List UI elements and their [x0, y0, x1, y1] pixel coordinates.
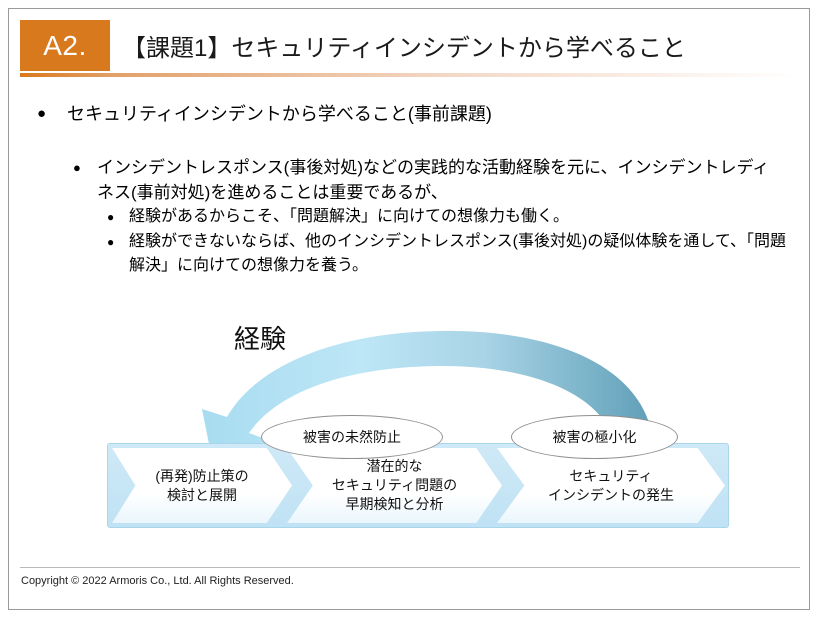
- footer-divider: [20, 567, 800, 568]
- bullet-marker-icon: ●: [37, 101, 67, 127]
- bullet-level3-item-1: ● 経験があるからこそ、「問題解決」に向けての想像力も働く。: [107, 205, 797, 229]
- slide-canvas: A2. 【課題1】セキュリティインシデントから学べること ● セキュリティインシ…: [8, 8, 810, 610]
- process-step-1-text: (再発)防止策の検討と展開: [155, 467, 248, 505]
- process-step-1: (再発)防止策の検討と展開: [112, 448, 292, 523]
- process-step-2-line-3: 早期検知と分析: [332, 495, 457, 514]
- process-step-2-line-1: 潜在的な: [332, 457, 457, 476]
- process-step-2-text: 潜在的なセキュリティ問題の早期検知と分析: [332, 457, 457, 514]
- process-step-3-line-1: セキュリティ: [548, 467, 674, 486]
- process-step-2-line-2: セキュリティ問題の: [332, 476, 457, 495]
- callout-prevention-label: 被害の未然防止: [303, 427, 401, 447]
- process-step-3-text: セキュリティインシデントの発生: [548, 467, 674, 505]
- callout-minimization: 被害の極小化: [511, 415, 678, 459]
- bullet-level1-text: セキュリティインシデントから学べること(事前課題): [67, 101, 492, 127]
- section-badge: A2.: [20, 20, 110, 71]
- slide-header: A2. 【課題1】セキュリティインシデントから学べること: [9, 9, 810, 71]
- bullet-marker-icon: ●: [107, 230, 129, 278]
- bullet-level2-text: インシデントレスポンス(事後対処)などの実践的な活動経験を元に、インシデントレデ…: [97, 155, 783, 205]
- bullet-level3-text: 経験ができないならば、他のインシデントレスポンス(事後対処)の疑似体験を通して、…: [129, 230, 797, 278]
- process-step-3-line-2: インシデントの発生: [548, 486, 674, 505]
- callout-minimization-label: 被害の極小化: [553, 427, 637, 447]
- bullet-level1: ● セキュリティインシデントから学べること(事前課題): [37, 101, 777, 127]
- bullet-level3-text: 経験があるからこそ、「問題解決」に向けての想像力も働く。: [129, 205, 569, 229]
- page-title: 【課題1】セキュリティインシデントから学べること: [110, 20, 800, 71]
- process-step-1-line-1: (再発)防止策の: [155, 467, 248, 486]
- section-badge-label: A2.: [43, 32, 87, 60]
- callout-prevention: 被害の未然防止: [261, 415, 443, 459]
- process-step-2: 潜在的なセキュリティ問題の早期検知と分析: [287, 448, 502, 523]
- bullet-marker-icon: ●: [107, 205, 129, 229]
- process-step-1-line-2: 検討と展開: [155, 486, 248, 505]
- footer-copyright: Copyright © 2022 Armoris Co., Ltd. All R…: [21, 575, 294, 587]
- bullet-level3-item-2: ● 経験ができないならば、他のインシデントレスポンス(事後対処)の疑似体験を通し…: [107, 230, 797, 278]
- header-divider: [20, 73, 800, 77]
- process-figure: 経験 (再発)防止策の検討と展開 潜在的なセキュリティ問題の早期検知と分析 セキ…: [9, 309, 810, 559]
- page-title-text: 【課題1】セキュリティインシデントから学べること: [110, 28, 686, 63]
- process-step-3: セキュリティインシデントの発生: [497, 448, 725, 523]
- bullet-marker-icon: ●: [73, 155, 97, 205]
- bullet-level2: ● インシデントレスポンス(事後対処)などの実践的な活動経験を元に、インシデント…: [73, 155, 783, 205]
